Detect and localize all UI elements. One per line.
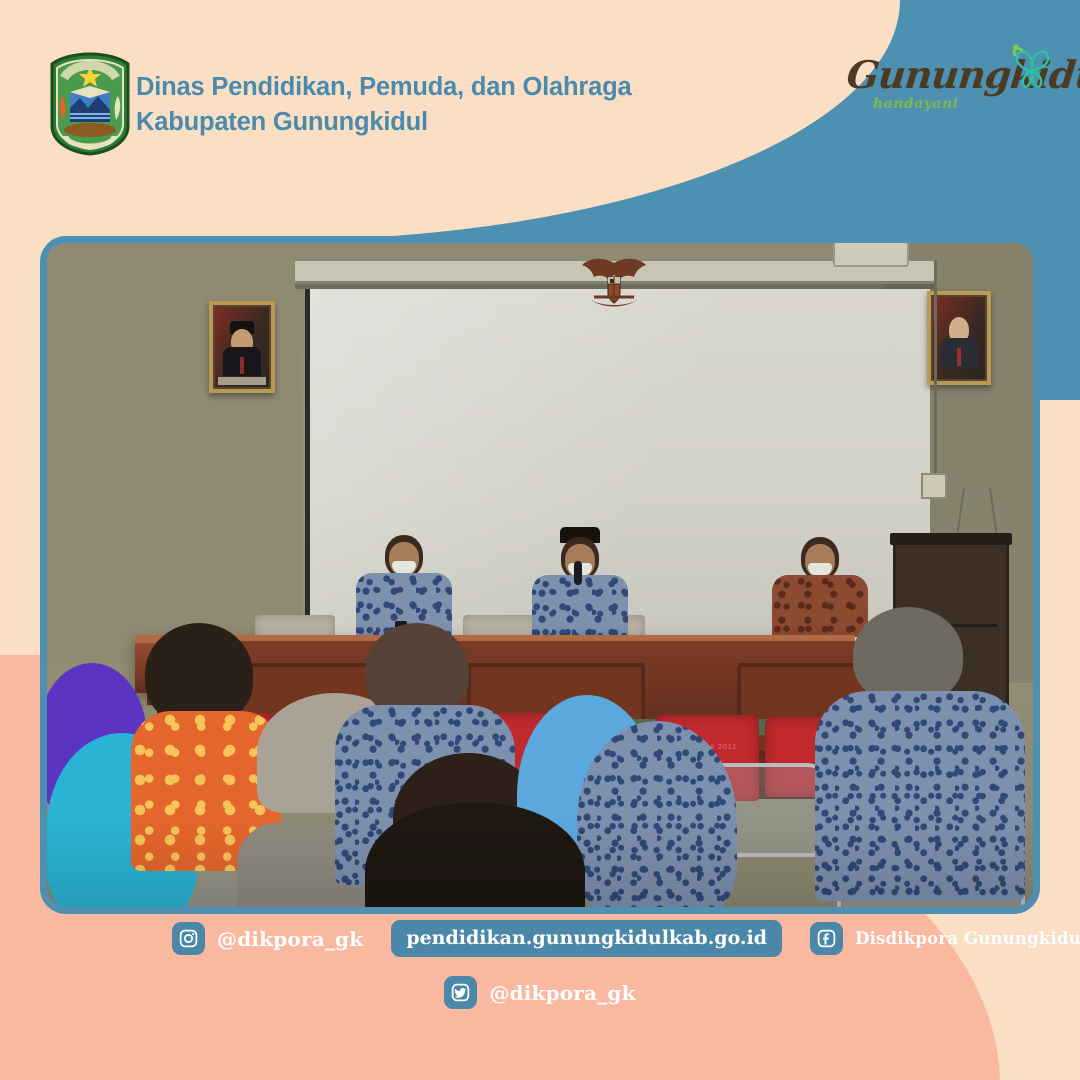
photo-vignette <box>47 817 1033 907</box>
speaker-center <box>525 531 635 645</box>
head <box>145 623 253 725</box>
social-row-primary: @dikpora_gk pendidikan.gunungkidulkab.go… <box>172 920 1080 957</box>
poster-canvas: Dinas Pendidikan, Pemuda, dan Olahraga K… <box>0 0 1080 1080</box>
portrait-image <box>933 297 985 379</box>
page-title: Dinas Pendidikan, Pemuda, dan Olahraga K… <box>136 70 736 140</box>
president-portrait <box>209 301 275 393</box>
portrait-nameplate <box>218 377 266 384</box>
facebook-page-name[interactable]: Disdikpora Gunungkidul <box>855 929 1080 948</box>
cabinet-top <box>890 533 1012 545</box>
brand-tagline: handayani <box>873 96 959 112</box>
microphone <box>574 561 582 585</box>
speaker-batik-shirt <box>532 575 628 641</box>
speaker-right <box>765 537 875 647</box>
facebook-icon[interactable] <box>810 922 843 955</box>
portrait-tie <box>957 348 961 366</box>
wall-socket <box>921 473 947 499</box>
event-photo-card: DIKPORA 2011 <box>40 236 1040 914</box>
portrait-tie <box>240 357 244 375</box>
instagram-icon[interactable] <box>172 922 205 955</box>
wall-cable <box>934 261 937 475</box>
poster-footer: @dikpora_gk pendidikan.gunungkidulkab.go… <box>0 920 1080 1080</box>
page-title-line-1: Dinas Pendidikan, Pemuda, dan Olahraga <box>136 70 736 105</box>
event-photo: DIKPORA 2011 <box>47 243 1033 907</box>
garuda-pancasila-emblem-icon <box>574 253 654 313</box>
regency-crest-icon <box>44 52 136 156</box>
air-conditioner <box>833 243 909 267</box>
page-title-line-2: Kabupaten Gunungkidul <box>136 105 736 140</box>
twitter-handle[interactable]: @dikpora_gk <box>489 981 635 1005</box>
twitter-icon[interactable] <box>444 976 477 1009</box>
website-url-pill[interactable]: pendidikan.gunungkidulkab.go.id <box>391 920 782 957</box>
speaker-batik-shirt <box>772 575 868 641</box>
head <box>853 607 963 703</box>
portrait-image <box>215 307 269 387</box>
social-row-secondary: @dikpora_gk <box>0 976 1080 1009</box>
gunungkidul-brand-logo: Gunungkidul handayani <box>847 40 1062 130</box>
butterfly-icon <box>1004 40 1060 92</box>
poster-header: Dinas Pendidikan, Pemuda, dan Olahraga K… <box>0 0 1080 240</box>
instagram-handle[interactable]: @dikpora_gk <box>217 927 363 951</box>
